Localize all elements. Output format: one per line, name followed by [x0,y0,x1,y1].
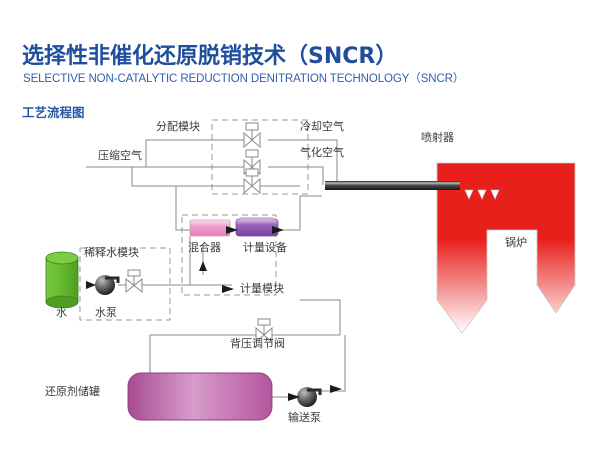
injector-lance [325,181,460,190]
label-transfer-pump: 输送泵 [288,412,321,423]
transfer-pump-icon [297,387,320,407]
metering-equipment-vessel [236,217,278,236]
label-water: 水 [56,307,67,318]
mixer-vessel [190,220,230,236]
label-metering-module: 计量模块 [240,283,284,294]
valve-cooling-air[interactable] [244,123,260,147]
label-dilution-water-module: 稀释水模块 [84,247,139,258]
label-mixer: 混合器 [188,242,221,253]
label-gasification-air: 气化空气 [300,147,344,158]
distribution-valves [244,123,260,193]
label-compressed-air: 压缩空气 [98,150,142,161]
label-injector: 喷射器 [421,132,454,143]
water-pump-icon [95,275,118,295]
label-distribution-module: 分配模块 [156,121,200,132]
valve-atomizing-air[interactable] [244,169,260,193]
label-reductant-tank: 还原剂储罐 [45,386,100,397]
diagram-canvas [0,0,600,450]
water-cylinder [46,252,78,308]
valve-water-pump[interactable] [126,270,142,292]
process-flow-diagram: 分配模块 压缩空气 冷却空气 气化空气 喷射器 锅炉 混合器 计量设备 计量模块… [0,0,600,450]
slide-page: 选择性非催化还原脱销技术（SNCR） SELECTIVE NON-CATALYT… [0,0,600,450]
label-boiler: 锅炉 [505,237,527,248]
label-metering-equipment: 计量设备 [243,242,287,253]
label-cooling-air: 冷却空气 [300,121,344,132]
label-water-pump: 水泵 [95,307,117,318]
label-back-pressure-valve: 背压调节阀 [230,338,285,349]
reductant-storage-tank [128,373,272,420]
